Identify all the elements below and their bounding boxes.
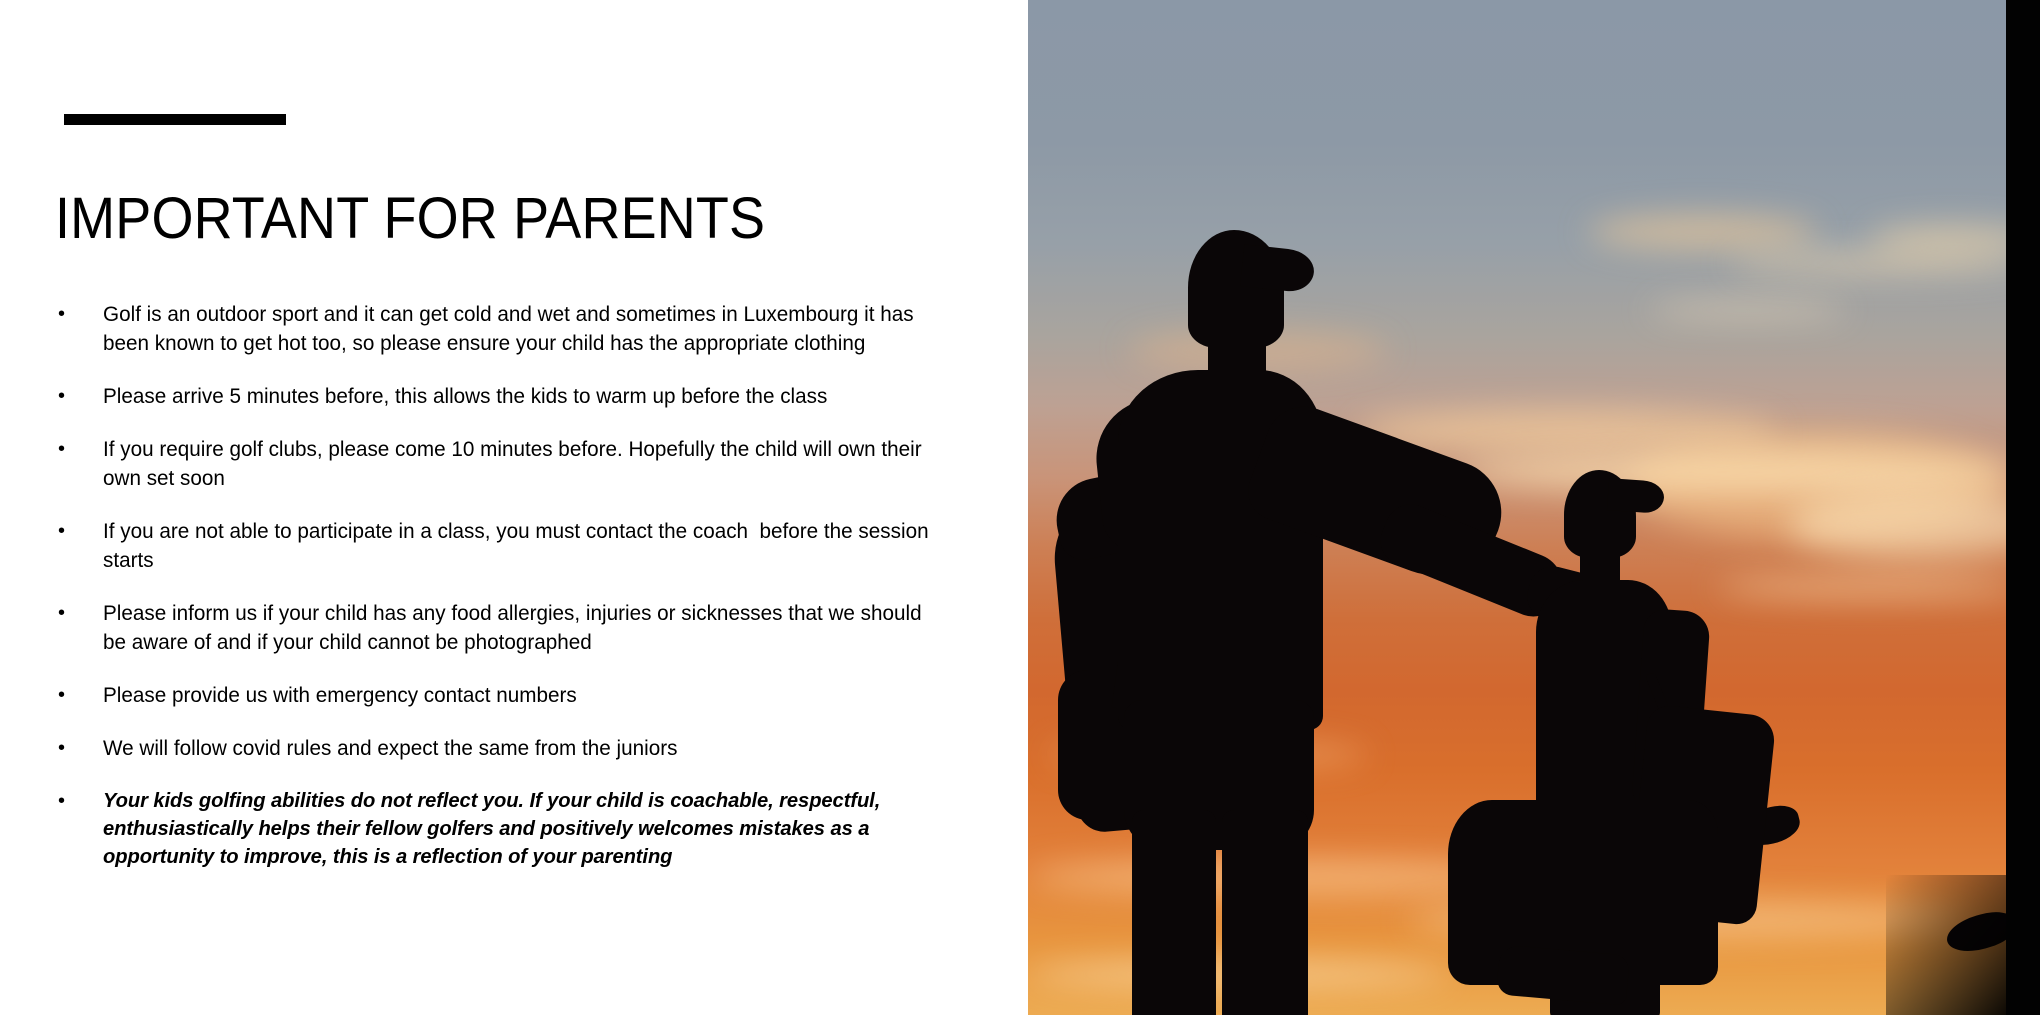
list-item-emphasized: • Your kids golfing abilities do not ref… bbox=[55, 787, 955, 871]
adult-golfer-silhouette bbox=[1058, 230, 1378, 1015]
list-item: • Please arrive 5 minutes before, this a… bbox=[55, 382, 955, 411]
list-item: • Please inform us if your child has any… bbox=[55, 599, 955, 657]
bullet-marker-icon: • bbox=[55, 787, 103, 815]
photo-right-black-band bbox=[2006, 0, 2040, 1015]
page-title: IMPORTANT FOR PARENTS bbox=[55, 189, 892, 250]
bullet-list: • Golf is an outdoor sport and it can ge… bbox=[55, 300, 955, 871]
bullet-marker-icon: • bbox=[55, 435, 103, 464]
list-item: • Golf is an outdoor sport and it can ge… bbox=[55, 300, 955, 358]
list-item-text: Please arrive 5 minutes before, this all… bbox=[103, 382, 942, 411]
list-item-text: Please provide us with emergency contact… bbox=[103, 681, 942, 710]
golfers-sunset-photo bbox=[1028, 0, 2006, 1015]
slide-text-pane: IMPORTANT FOR PARENTS • Golf is an outdo… bbox=[0, 0, 1028, 1015]
bullet-marker-icon: • bbox=[55, 734, 103, 763]
list-item-text: Your kids golfing abilities do not refle… bbox=[103, 787, 942, 871]
list-item-text: If you are not able to participate in a … bbox=[103, 517, 942, 575]
list-item: • We will follow covid rules and expect … bbox=[55, 734, 955, 763]
child-golf-bag-base bbox=[1496, 944, 1630, 1005]
list-item-text: If you require golf clubs, please come 1… bbox=[103, 435, 942, 493]
bullet-marker-icon: • bbox=[55, 517, 103, 546]
bullet-marker-icon: • bbox=[55, 382, 103, 411]
list-item: • Please provide us with emergency conta… bbox=[55, 681, 955, 710]
list-item-text: Please inform us if your child has any f… bbox=[103, 599, 942, 657]
presentation-slide: IMPORTANT FOR PARENTS • Golf is an outdo… bbox=[0, 0, 2040, 1015]
adult-cap bbox=[1240, 244, 1316, 293]
list-item-text: We will follow covid rules and expect th… bbox=[103, 734, 942, 763]
bullet-marker-icon: • bbox=[55, 300, 103, 329]
child-golfer-silhouette bbox=[1488, 470, 1788, 1015]
slide-image-pane bbox=[1028, 0, 2040, 1015]
adult-left-leg bbox=[1132, 810, 1216, 1015]
bullet-marker-icon: • bbox=[55, 681, 103, 710]
list-item: • If you are not able to participate in … bbox=[55, 517, 955, 575]
bullet-marker-icon: • bbox=[55, 599, 103, 628]
list-item-text: Golf is an outdoor sport and it can get … bbox=[103, 300, 942, 358]
adult-right-leg bbox=[1222, 810, 1308, 1015]
list-item: • If you require golf clubs, please come… bbox=[55, 435, 955, 493]
child-cap bbox=[1607, 478, 1665, 514]
title-accent-rule bbox=[64, 114, 286, 125]
